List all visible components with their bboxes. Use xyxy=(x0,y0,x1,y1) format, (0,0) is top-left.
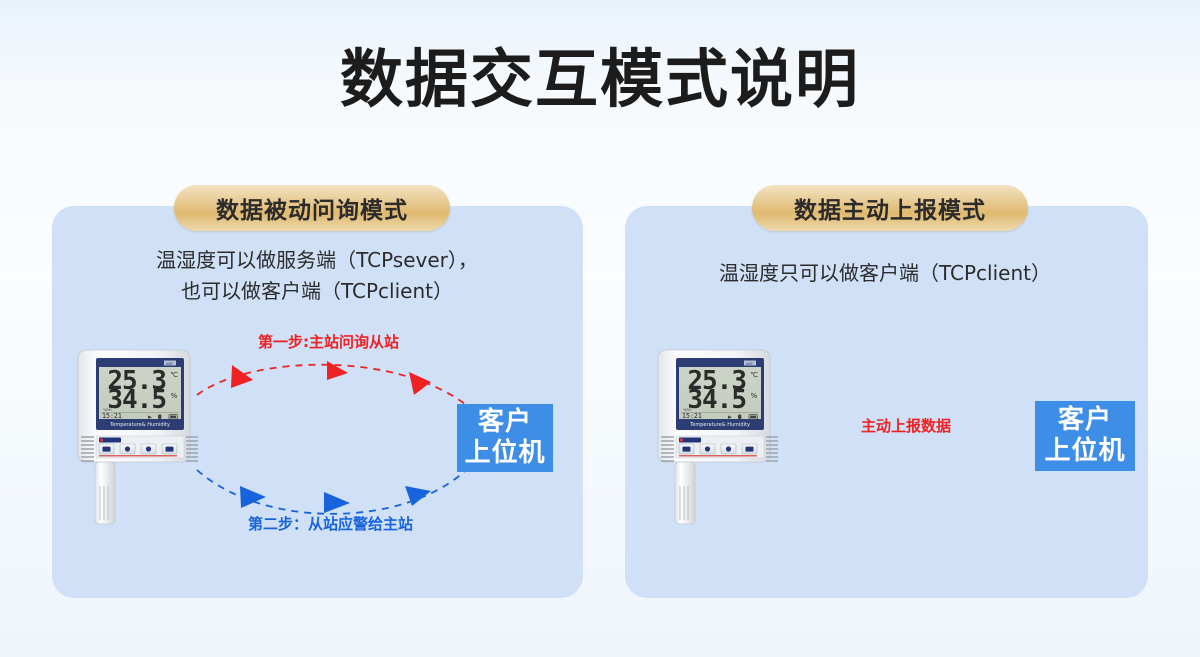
host-computer-box-right: 客户 上位机 xyxy=(1035,401,1135,471)
host-box-line2: 上位机 xyxy=(1044,436,1125,467)
svg-text:34.5: 34.5 xyxy=(107,385,166,415)
svg-text:15:21: 15:21 xyxy=(102,412,122,420)
svg-text:℃: ℃ xyxy=(170,371,178,379)
svg-text:%: % xyxy=(751,392,758,400)
flow-label-step3: 主动上报数据 xyxy=(861,415,951,436)
description-line: 也可以做客户端（TCPclient） xyxy=(82,276,552,307)
slide-canvas: 数据交互模式说明 数据被动问询模式 温湿度可以做服务端（TCPsever）， 也… xyxy=(0,0,1200,657)
sensor-device-illustration: ANT 25.3 ℃ 34.5 % %RH 15:21 Temperature&… xyxy=(70,344,198,530)
badge-active-report-mode: 数据主动上报模式 xyxy=(752,185,1028,231)
svg-text:%: % xyxy=(171,392,178,400)
host-box-line2: 上位机 xyxy=(464,438,545,469)
svg-text:34.5: 34.5 xyxy=(687,385,746,415)
description-passive-query-mode: 温湿度可以做服务端（TCPsever）， 也可以做客户端（TCPclient） xyxy=(82,245,552,307)
sensor-device-left: ANT 25.3 ℃ 34.5 % %RH 15:21 Temperature&… xyxy=(70,344,198,530)
svg-text:Temperature& Humidity: Temperature& Humidity xyxy=(109,422,170,428)
host-box-line1: 客户 xyxy=(478,407,532,438)
description-line: 温湿度可以做服务端（TCPsever）， xyxy=(82,245,552,276)
flow-label-step1: 第一步:主站问询从站 xyxy=(258,331,399,352)
description-line: 温湿度只可以做客户端（TCPclient） xyxy=(650,258,1120,289)
svg-text:Temperature& Humidity: Temperature& Humidity xyxy=(689,422,750,428)
host-computer-box-left: 客户 上位机 xyxy=(457,404,553,472)
host-box-line1: 客户 xyxy=(1058,405,1112,436)
description-active-report-mode: 温湿度只可以做客户端（TCPclient） xyxy=(650,258,1120,289)
sensor-device-right: ANT 25.3 ℃ 34.5 % %RH 15:21 Temperature&… xyxy=(650,344,778,530)
svg-text:ANT: ANT xyxy=(166,362,174,366)
svg-text:15:21: 15:21 xyxy=(682,412,702,420)
flow-label-step2: 第二步：从站应警给主站 xyxy=(248,513,413,534)
svg-text:℃: ℃ xyxy=(750,371,758,379)
page-title: 数据交互模式说明 xyxy=(0,46,1200,114)
svg-text:ANT: ANT xyxy=(746,362,754,366)
badge-passive-query-mode: 数据被动问询模式 xyxy=(174,185,450,231)
sensor-device-illustration: ANT 25.3 ℃ 34.5 % %RH 15:21 Temperature&… xyxy=(650,344,778,530)
